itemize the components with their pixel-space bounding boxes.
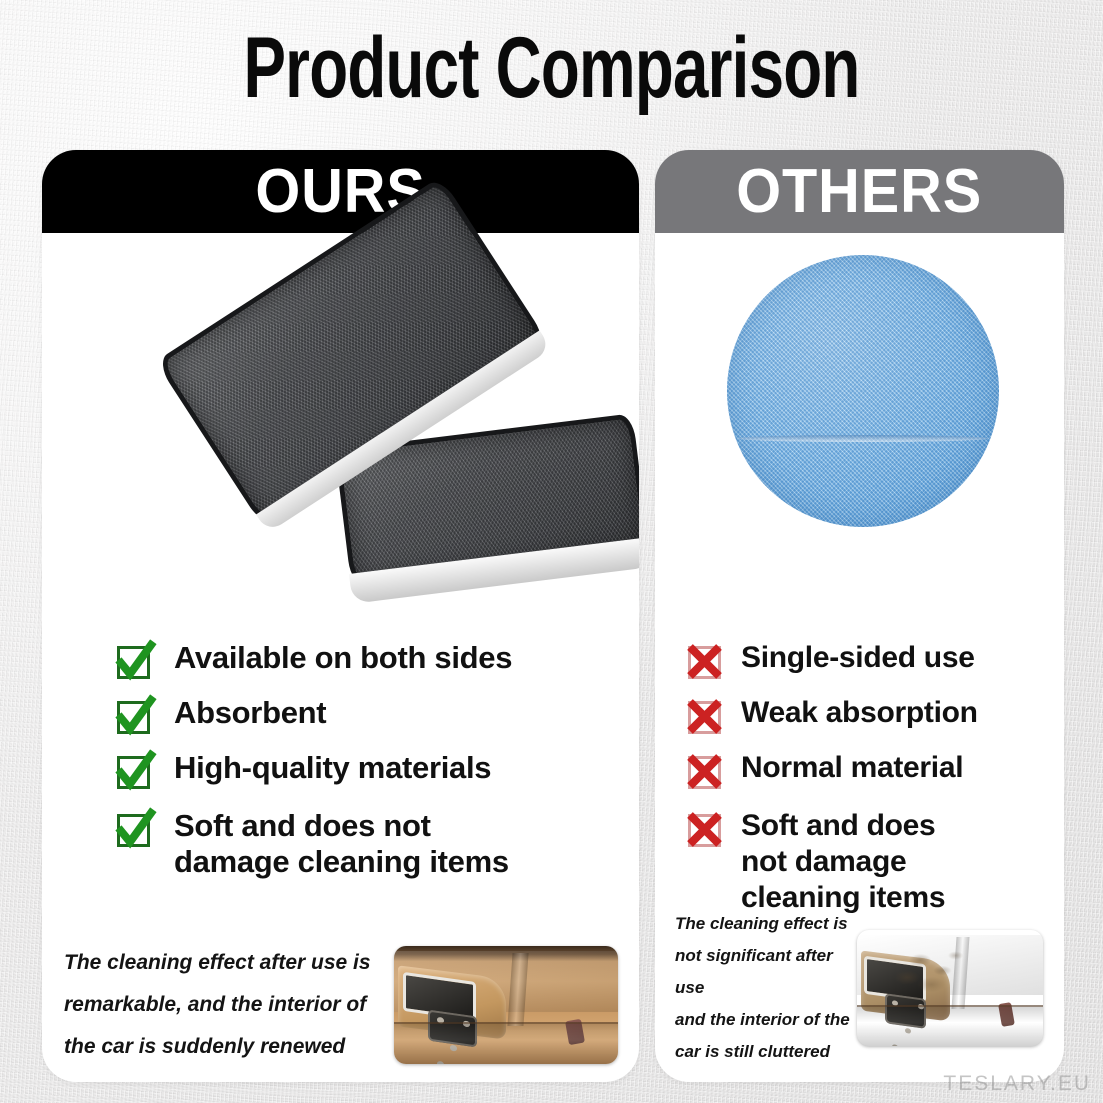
comparison-poster: Product Comparison OURS Available on bot… (0, 0, 1103, 1103)
check-icon (114, 810, 156, 852)
cross-icon (685, 697, 727, 739)
feature-label: Absorbent (174, 695, 326, 731)
feature-row: Soft and does not damage cleaning items (685, 808, 1064, 916)
feature-list-ours: Available on both sides Absorbent (42, 640, 639, 891)
feature-row: High-quality materials (114, 750, 639, 794)
feature-label: Available on both sides (174, 640, 512, 676)
car-interior-photo-dirty (857, 930, 1043, 1046)
comparison-card-others: OTHERS Single-sided use (655, 150, 1064, 1082)
car-interior-photo-clean (394, 946, 618, 1064)
comparison-card-ours: OURS Available on both sides (42, 150, 639, 1082)
caption-line: not significant after use (675, 940, 857, 1004)
cross-icon (685, 642, 727, 684)
caption-band-others: The cleaning effect is not significant a… (655, 908, 1064, 1068)
check-icon (114, 697, 156, 739)
caption-line: car is still cluttered (675, 1036, 857, 1068)
check-icon (114, 752, 156, 794)
feature-row: Absorbent (114, 695, 639, 739)
feature-label: Weak absorption (741, 695, 978, 731)
caption-band-ours: The cleaning effect after use is remarka… (42, 942, 639, 1068)
cross-icon (685, 752, 727, 794)
product-image-others (655, 233, 1064, 628)
caption-line: The cleaning effect is (675, 908, 857, 940)
feature-label: Normal material (741, 750, 963, 786)
feature-list-others: Single-sided use Weak absorption (655, 640, 1064, 927)
caption-line: the car is suddenly renewed (64, 1026, 394, 1068)
caption-line: The cleaning effect after use is (64, 942, 394, 984)
card-header-others: OTHERS (655, 150, 1064, 233)
product-image-ours (42, 233, 639, 628)
card-header-label-others: OTHERS (737, 161, 983, 223)
feature-label: High-quality materials (174, 750, 491, 786)
feature-label: Soft and does not damage cleaning items (741, 808, 945, 916)
blue-round-pad (727, 255, 999, 527)
feature-label: Single-sided use (741, 640, 975, 676)
page-title: Product Comparison (143, 22, 959, 114)
feature-row: Normal material (685, 750, 1064, 794)
check-icon (114, 642, 156, 684)
feature-row: Weak absorption (685, 695, 1064, 739)
caption-line: and the interior of the (675, 1004, 857, 1036)
card-header-ours: OURS (42, 150, 639, 233)
pad-seam (738, 435, 988, 442)
watermark: TESLARY.EU (943, 1072, 1091, 1096)
feature-row: Soft and does not damage cleaning items (114, 808, 639, 880)
feature-label: Soft and does not damage cleaning items (174, 808, 509, 880)
feature-row: Single-sided use (685, 640, 1064, 684)
caption-text-others: The cleaning effect is not significant a… (675, 908, 857, 1068)
caption-line: remarkable, and the interior of (64, 984, 394, 1026)
caption-text-ours: The cleaning effect after use is remarka… (64, 942, 394, 1068)
cross-icon (685, 810, 727, 852)
feature-row: Available on both sides (114, 640, 639, 684)
